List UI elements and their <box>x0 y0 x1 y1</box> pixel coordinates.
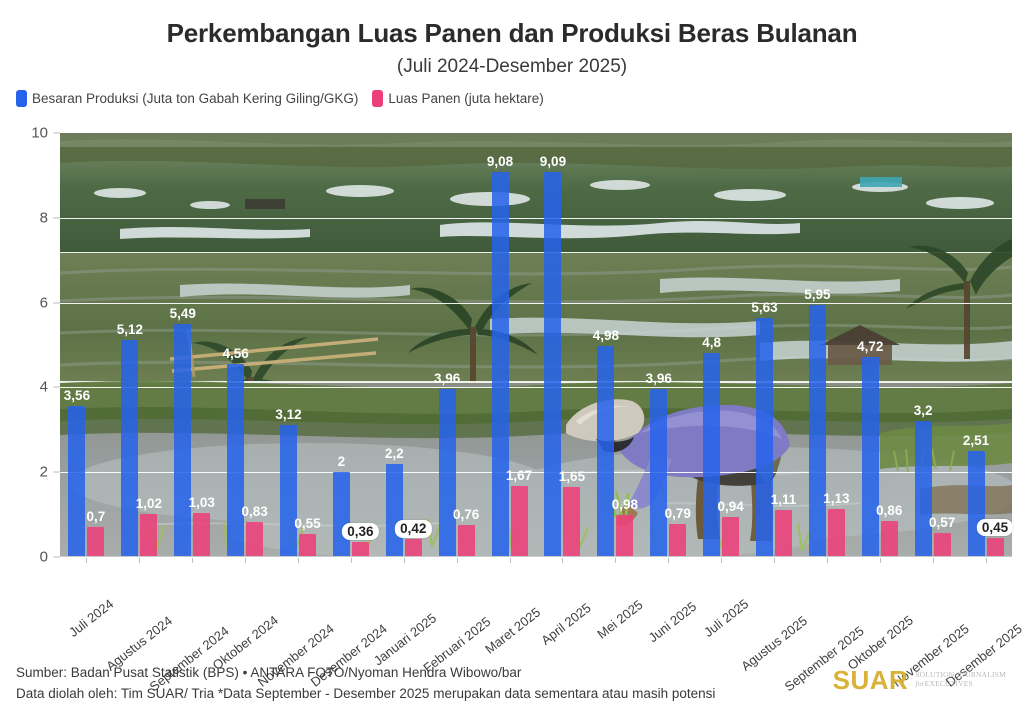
x-axis-label-0: Juli 2024 <box>66 596 116 640</box>
value-label-area-6: 0,42 <box>395 520 431 538</box>
bar-prod-12[interactable] <box>703 353 720 557</box>
value-label-prod-13: 5,63 <box>751 301 777 315</box>
legend-item-1[interactable]: Luas Panen (juta hektare) <box>372 90 543 107</box>
bar-area-4[interactable] <box>299 534 316 557</box>
x-axis-label-8: Maret 2025 <box>482 604 543 656</box>
bar-prod-13[interactable] <box>756 318 773 557</box>
x-tick-mark-13 <box>774 558 775 563</box>
value-label-prod-3: 4,56 <box>222 347 248 361</box>
x-tick-mark-7 <box>457 558 458 563</box>
y-tick-label-0: 0 <box>40 549 48 566</box>
legend-swatch-icon-1 <box>372 90 383 107</box>
bar-prod-7[interactable] <box>439 389 456 557</box>
value-label-prod-14: 5,95 <box>804 288 830 302</box>
value-label-prod-8: 9,08 <box>487 155 513 169</box>
x-tick-mark-10 <box>615 558 616 563</box>
x-tick-mark-2 <box>192 558 193 563</box>
bar-prod-4[interactable] <box>280 425 297 557</box>
value-label-prod-15: 4,72 <box>857 340 883 354</box>
bar-area-12[interactable] <box>722 517 739 557</box>
legend-label-0: Besaran Produksi (Juta ton Gabah Kering … <box>32 91 358 106</box>
x-tick-mark-16 <box>933 558 934 563</box>
y-tick-mark-2 <box>53 472 60 473</box>
processed-by-line: Data diolah oleh: Tim SUAR/ Tria *Data S… <box>16 684 715 705</box>
x-tick-mark-1 <box>139 558 140 563</box>
brand-tagline-line1: SOLUTION JOURNALISM <box>915 670 1006 679</box>
x-tick-mark-3 <box>245 558 246 563</box>
value-label-prod-12: 4,8 <box>702 336 721 350</box>
x-axis-label-12: Juli 2025 <box>701 596 751 640</box>
bar-area-11[interactable] <box>669 524 686 557</box>
x-tick-mark-4 <box>298 558 299 563</box>
value-label-area-0: 0,7 <box>87 510 106 524</box>
value-label-area-14: 1,13 <box>823 492 849 506</box>
x-axis-label-10: Mei 2025 <box>595 597 646 642</box>
brand-tagline-for: for <box>915 679 924 688</box>
value-label-prod-16: 3,2 <box>914 404 933 418</box>
value-label-area-5: 0,36 <box>342 523 378 541</box>
value-label-area-10: 0,98 <box>612 498 638 512</box>
value-label-area-13: 1,11 <box>771 493 797 507</box>
bar-area-7[interactable] <box>458 525 475 557</box>
footer: Sumber: Badan Pusat Statistik (BPS) • AN… <box>16 663 715 705</box>
bar-prod-5[interactable] <box>333 472 350 557</box>
bar-prod-3[interactable] <box>227 364 244 557</box>
bar-area-8[interactable] <box>511 486 528 557</box>
bar-prod-0[interactable] <box>68 406 85 557</box>
chart-page: Perkembangan Luas Panen dan Produksi Ber… <box>0 0 1024 727</box>
value-label-area-3: 0,83 <box>241 505 267 519</box>
y-tick-label-4: 4 <box>40 379 48 396</box>
y-tick-mark-0 <box>53 557 60 558</box>
chart-legend: Besaran Produksi (Juta ton Gabah Kering … <box>16 90 544 107</box>
x-axis-label-11: Juni 2025 <box>646 599 700 646</box>
x-axis-label-9: April 2025 <box>539 600 594 648</box>
bar-prod-8[interactable] <box>492 172 509 557</box>
x-tick-mark-8 <box>510 558 511 563</box>
bar-prod-16[interactable] <box>915 421 932 557</box>
value-label-area-4: 0,55 <box>294 517 320 531</box>
bar-area-10[interactable] <box>616 515 633 557</box>
y-tick-mark-10 <box>53 133 60 134</box>
x-axis-baseline <box>60 556 1012 557</box>
bar-area-2[interactable] <box>193 513 210 557</box>
bar-area-1[interactable] <box>140 514 157 557</box>
bar-prod-11[interactable] <box>650 389 667 557</box>
y-axis: 0246810 <box>0 133 60 558</box>
brand-name: SUAR <box>833 668 909 693</box>
legend-label-1: Luas Panen (juta hektare) <box>388 91 543 106</box>
plot-area: 3,560,75,121,025,491,034,560,833,120,552… <box>60 133 1012 557</box>
y-tick-mark-6 <box>53 302 60 303</box>
x-tick-mark-6 <box>404 558 405 563</box>
brand-tagline-line2: EXECUTIVES <box>925 679 973 688</box>
x-tick-mark-0 <box>86 558 87 563</box>
value-label-area-17: 0,45 <box>977 519 1013 537</box>
bar-area-14[interactable] <box>828 509 845 557</box>
x-tick-mark-12 <box>721 558 722 563</box>
x-axis-labels: Juli 2024Agustus 2024September 2024Oktob… <box>60 564 1012 654</box>
bar-prod-14[interactable] <box>809 305 826 557</box>
bar-area-0[interactable] <box>87 527 104 557</box>
y-tick-mark-8 <box>53 217 60 218</box>
bar-prod-6[interactable] <box>386 464 403 557</box>
value-label-prod-2: 5,49 <box>170 307 196 321</box>
y-tick-label-2: 2 <box>40 464 48 481</box>
value-label-prod-17: 2,51 <box>963 434 989 448</box>
x-tick-mark-17 <box>986 558 987 563</box>
bars-layer: 3,560,75,121,025,491,034,560,833,120,552… <box>60 133 1012 557</box>
x-tick-mark-15 <box>880 558 881 563</box>
bar-area-6[interactable] <box>405 539 422 557</box>
value-label-prod-0: 3,56 <box>64 389 90 403</box>
value-label-area-9: 1,65 <box>559 470 585 484</box>
value-label-prod-6: 2,2 <box>385 447 404 461</box>
value-label-prod-5: 2 <box>338 455 346 469</box>
value-label-area-15: 0,86 <box>876 504 902 518</box>
bar-prod-10[interactable] <box>597 346 614 557</box>
value-label-area-7: 0,76 <box>453 508 479 522</box>
value-label-prod-9: 9,09 <box>540 155 566 169</box>
value-label-area-8: 1,67 <box>506 469 532 483</box>
bar-area-13[interactable] <box>775 510 792 557</box>
value-label-prod-1: 5,12 <box>117 323 143 337</box>
bar-prod-1[interactable] <box>121 340 138 557</box>
legend-item-0[interactable]: Besaran Produksi (Juta ton Gabah Kering … <box>16 90 358 107</box>
value-label-prod-11: 3,96 <box>646 372 672 386</box>
bar-prod-2[interactable] <box>174 324 191 557</box>
value-label-prod-4: 3,12 <box>275 408 301 422</box>
bar-prod-9[interactable] <box>544 172 561 557</box>
y-tick-label-6: 6 <box>40 294 48 311</box>
value-label-area-12: 0,94 <box>717 500 743 514</box>
source-line: Sumber: Badan Pusat Statistik (BPS) • AN… <box>16 663 715 684</box>
bar-area-16[interactable] <box>934 533 951 557</box>
x-axis-label-13: Agustus 2025 <box>738 613 810 674</box>
value-label-prod-7: 3,96 <box>434 372 460 386</box>
bar-area-5[interactable] <box>352 542 369 557</box>
value-label-area-16: 0,57 <box>929 516 955 530</box>
bar-prod-15[interactable] <box>862 357 879 557</box>
value-label-area-1: 1,02 <box>136 497 162 511</box>
y-tick-label-8: 8 <box>40 209 48 226</box>
bar-prod-17[interactable] <box>968 451 985 557</box>
value-label-area-2: 1,03 <box>189 496 215 510</box>
y-tick-label-10: 10 <box>31 125 48 142</box>
y-tick-mark-4 <box>53 387 60 388</box>
value-label-area-11: 0,79 <box>665 507 691 521</box>
bar-area-17[interactable] <box>987 538 1004 557</box>
legend-swatch-icon-0 <box>16 90 27 107</box>
bar-area-15[interactable] <box>881 521 898 557</box>
bar-area-9[interactable] <box>563 487 580 557</box>
x-tick-mark-14 <box>827 558 828 563</box>
x-tick-mark-5 <box>351 558 352 563</box>
x-tick-mark-11 <box>668 558 669 563</box>
suar-logo: SUAR SOLUTION JOURNALISM forEXECUTIVES <box>833 668 1006 693</box>
brand-tagline: SOLUTION JOURNALISM forEXECUTIVES <box>915 668 1006 689</box>
x-tick-mark-9 <box>562 558 563 563</box>
page-title: Perkembangan Luas Panen dan Produksi Ber… <box>0 18 1024 49</box>
bar-area-3[interactable] <box>246 522 263 557</box>
page-subtitle: (Juli 2024-Desember 2025) <box>0 56 1024 78</box>
value-label-prod-10: 4,98 <box>593 329 619 343</box>
